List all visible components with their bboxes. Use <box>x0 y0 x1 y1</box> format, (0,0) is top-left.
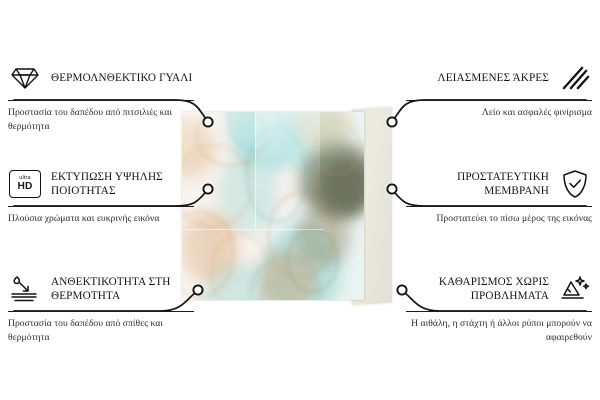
divider <box>406 311 592 312</box>
feature-high-quality-print: ultra HD ΕΚΤΥΠΩΣΗ ΥΨΗΛΗΣ ΠΟΙΟΤΗΤΑΣ Πλούσ… <box>8 166 194 226</box>
product-image <box>182 112 398 300</box>
feature-protective-membrane: ΠΡΟΣΤΑΤΕΥΤΙΚΗ ΜΕΜΒΡΑΝΗ Προστατεύει το πί… <box>406 166 592 226</box>
feature-heat-resistant-glass: ΘΕΡΜΟΛΝΘΕΚΤΙΚΟ ΓΥΑΛΙ Προστασία του δαπέδ… <box>8 60 194 133</box>
feature-description: Λείο και ασφαλές φινίρισμα <box>406 106 592 119</box>
feature-description: Προστασία του δαπέδου από σπίθες και θερ… <box>8 317 194 343</box>
feature-heat-durability: ΑΝΘΕΚΤΙΚΟΤΗΤΑ ΣΤΗ ΘΕΡΜΟΤΗΤΑ Προστασία το… <box>8 271 194 344</box>
feature-title: ΘΕΡΜΟΛΝΘΕΚΤΙΚΟ ΓΥΑΛΙ <box>51 71 194 85</box>
divider <box>8 311 194 312</box>
feature-easy-cleaning: ΚΑΘΑΡΙΣΜΟΣ ΧΩΡΙΣ ΠΡΟΒΛΗΜΑΤΑ Η αιθάλη, η … <box>406 271 592 344</box>
feature-title: ΕΚΤΥΠΩΣΗ ΥΨΗΛΗΣ ΠΟΙΟΤΗΤΑΣ <box>51 170 194 199</box>
heat-resistance-icon <box>8 274 42 304</box>
reflection-mullion-vertical <box>255 112 256 229</box>
polished-edges-icon <box>558 63 592 93</box>
hd-label: HD <box>18 182 33 192</box>
feature-header: ΠΡΟΣΤΑΤΕΥΤΙΚΗ ΜΕΜΒΡΑΝΗ <box>406 166 592 202</box>
ultra-hd-icon: ultra HD <box>8 169 42 199</box>
feature-title: ΛΕΙΑΣΜΕΝΕΣ ΆΚΡΕΣ <box>406 71 549 85</box>
divider <box>406 206 592 207</box>
infographic-canvas: ΘΕΡΜΟΛΝΘΕΚΤΙΚΟ ΓΥΑΛΙ Προστασία του δαπέδ… <box>0 0 600 400</box>
glass-panel-front <box>182 112 364 300</box>
divider <box>8 100 194 101</box>
feature-description: Προστατεύει το πίσω μέρος της εικόνας <box>406 212 592 225</box>
sparkle-clean-icon <box>558 274 592 304</box>
feature-description: Προστασία του δαπέδου από πιτσιλιές και … <box>8 106 194 132</box>
feature-title: ΑΝΘΕΚΤΙΚΟΤΗΤΑ ΣΤΗ ΘΕΡΜΟΤΗΤΑ <box>51 275 194 304</box>
shield-check-icon <box>558 169 592 199</box>
feature-header: ΘΕΡΜΟΛΝΘΕΚΤΙΚΟ ΓΥΑΛΙ <box>8 60 194 96</box>
feature-polished-edges: ΛΕΙΑΣΜΕΝΕΣ ΆΚΡΕΣ Λείο και ασφαλές φινίρι… <box>406 60 592 120</box>
divider <box>8 206 194 207</box>
feature-title: ΚΑΘΑΡΙΣΜΟΣ ΧΩΡΙΣ ΠΡΟΒΛΗΜΑΤΑ <box>406 275 549 304</box>
feature-title: ΠΡΟΣΤΑΤΕΥΤΙΚΗ ΜΕΜΒΡΑΝΗ <box>406 170 549 199</box>
diamond-icon <box>8 63 42 93</box>
divider <box>406 100 592 101</box>
feature-header: ΚΑΘΑΡΙΣΜΟΣ ΧΩΡΙΣ ΠΡΟΒΛΗΜΑΤΑ <box>406 271 592 307</box>
feature-header: ultra HD ΕΚΤΥΠΩΣΗ ΥΨΗΛΗΣ ΠΟΙΟΤΗΤΑΣ <box>8 166 194 202</box>
feature-description: Η αιθάλη, η στάχτη ή άλλοι ρύποι μπορούν… <box>406 317 592 343</box>
feature-header: ΛΕΙΑΣΜΕΝΕΣ ΆΚΡΕΣ <box>406 60 592 96</box>
feature-description: Πλούσια χρώματα και ευκρινής εικόνα <box>8 212 194 225</box>
feature-header: ΑΝΘΕΚΤΙΚΟΤΗΤΑ ΣΤΗ ΘΕΡΜΟΤΗΤΑ <box>8 271 194 307</box>
ink-artwork <box>182 112 364 300</box>
reflection-mullion-horizontal <box>182 229 324 230</box>
